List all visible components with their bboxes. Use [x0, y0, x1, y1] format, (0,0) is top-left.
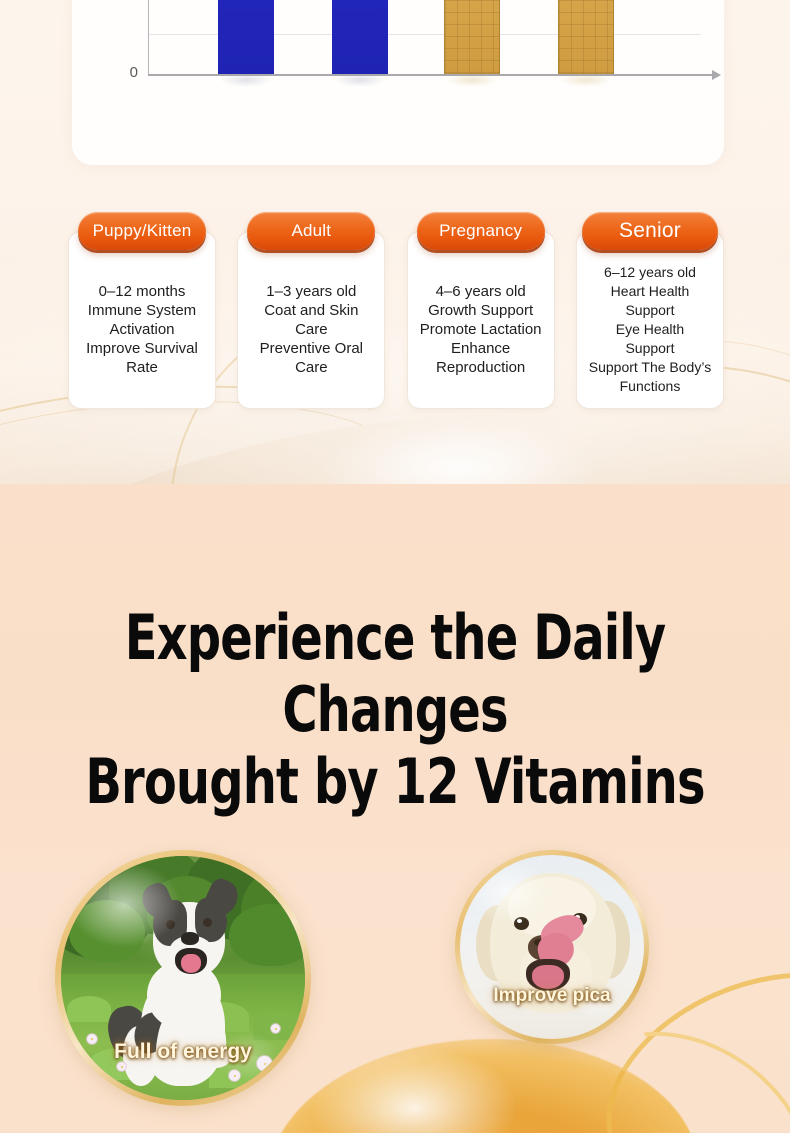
chart-bar	[332, 0, 388, 74]
card-body-senior: 6–12 years old Heart Health Support Eye …	[576, 231, 724, 409]
headline-line-2: Brought by 12 Vitamins	[55, 746, 734, 818]
headline-line-1: Experience the Daily Changes	[55, 602, 734, 746]
stage-pill-senior: Senior	[582, 212, 718, 250]
chart-bar-shadow	[324, 72, 396, 88]
card-body-adult: 1–3 years old Coat and Skin Care Prevent…	[237, 231, 385, 409]
oil-drop-decoration	[268, 1039, 698, 1133]
life-stage-card-adult[interactable]: Adult 1–3 years old Coat and Skin Care P…	[237, 212, 385, 409]
life-stage-card-senior[interactable]: Senior 6–12 years old Heart Health Suppo…	[576, 212, 724, 409]
life-stage-card-list: Puppy/Kitten 0–12 months Immune System A…	[68, 212, 724, 412]
life-stage-card-pregnancy[interactable]: Pregnancy 4–6 years old Growth Support P…	[407, 212, 555, 409]
card-text-senior: 6–12 years old Heart Health Support Eye …	[589, 263, 711, 396]
card-body-pregnancy: 4–6 years old Growth Support Promote Lac…	[407, 231, 555, 409]
promo-headline: Experience the Daily Changes Brought by …	[55, 602, 734, 818]
chart-y-tick-label: 0	[90, 64, 138, 81]
card-text-puppy: 0–12 months Immune System Activation Imp…	[86, 282, 198, 377]
chart-bar	[444, 0, 500, 74]
chart-bar	[558, 0, 614, 74]
age-distribution-chart-card: 20%0Young	[72, 0, 724, 165]
benefit-photo-pica: Improve pica	[460, 855, 644, 1039]
product-detail-page: 20%0Young Puppy/Kitten 0–12 months Immun…	[0, 0, 790, 1133]
pill-wrap: Adult	[237, 212, 385, 250]
oil-strand-2	[628, 1005, 790, 1133]
bar-chart: 20%0Young	[72, 0, 724, 165]
vitamin-benefits-section: Experience the Daily Changes Brought by …	[0, 484, 790, 1133]
pill-wrap: Pregnancy	[407, 212, 555, 250]
card-text-pregnancy: 4–6 years old Growth Support Promote Lac…	[420, 282, 542, 377]
benefit-photo-energy: Full of energy	[61, 856, 305, 1100]
card-body-puppy: 0–12 months Immune System Activation Imp…	[68, 231, 216, 409]
benefit-bubble-pica[interactable]: Improve pica	[455, 850, 649, 1044]
benefit-bubble-energy[interactable]: Full of energy	[55, 850, 311, 1106]
watermark-decoration	[26, 814, 72, 848]
collie-photo-scene	[61, 856, 305, 1100]
oil-highlight-decoration	[256, 1029, 711, 1133]
chart-bar	[218, 0, 274, 74]
chart-bar-shadow	[436, 72, 508, 88]
card-text-adult: 1–3 years old Coat and Skin Care Prevent…	[260, 282, 363, 377]
pill-wrap: Puppy/Kitten	[68, 212, 216, 250]
age-stage-section: 20%0Young Puppy/Kitten 0–12 months Immun…	[0, 0, 790, 484]
stage-pill-adult: Adult	[247, 212, 375, 250]
stage-pill-pregnancy: Pregnancy	[417, 212, 545, 250]
life-stage-card-puppy[interactable]: Puppy/Kitten 0–12 months Immune System A…	[68, 212, 216, 409]
chart-bar-shadow	[210, 72, 282, 88]
chart-bar-shadow	[550, 72, 622, 88]
chart-y-axis	[148, 0, 149, 74]
pill-wrap: Senior	[576, 212, 724, 250]
stage-pill-puppy: Puppy/Kitten	[78, 212, 206, 250]
labrador-photo-scene	[460, 855, 644, 1039]
chart-axis-arrow-icon	[712, 70, 721, 80]
oil-strand-4	[373, 1082, 790, 1133]
